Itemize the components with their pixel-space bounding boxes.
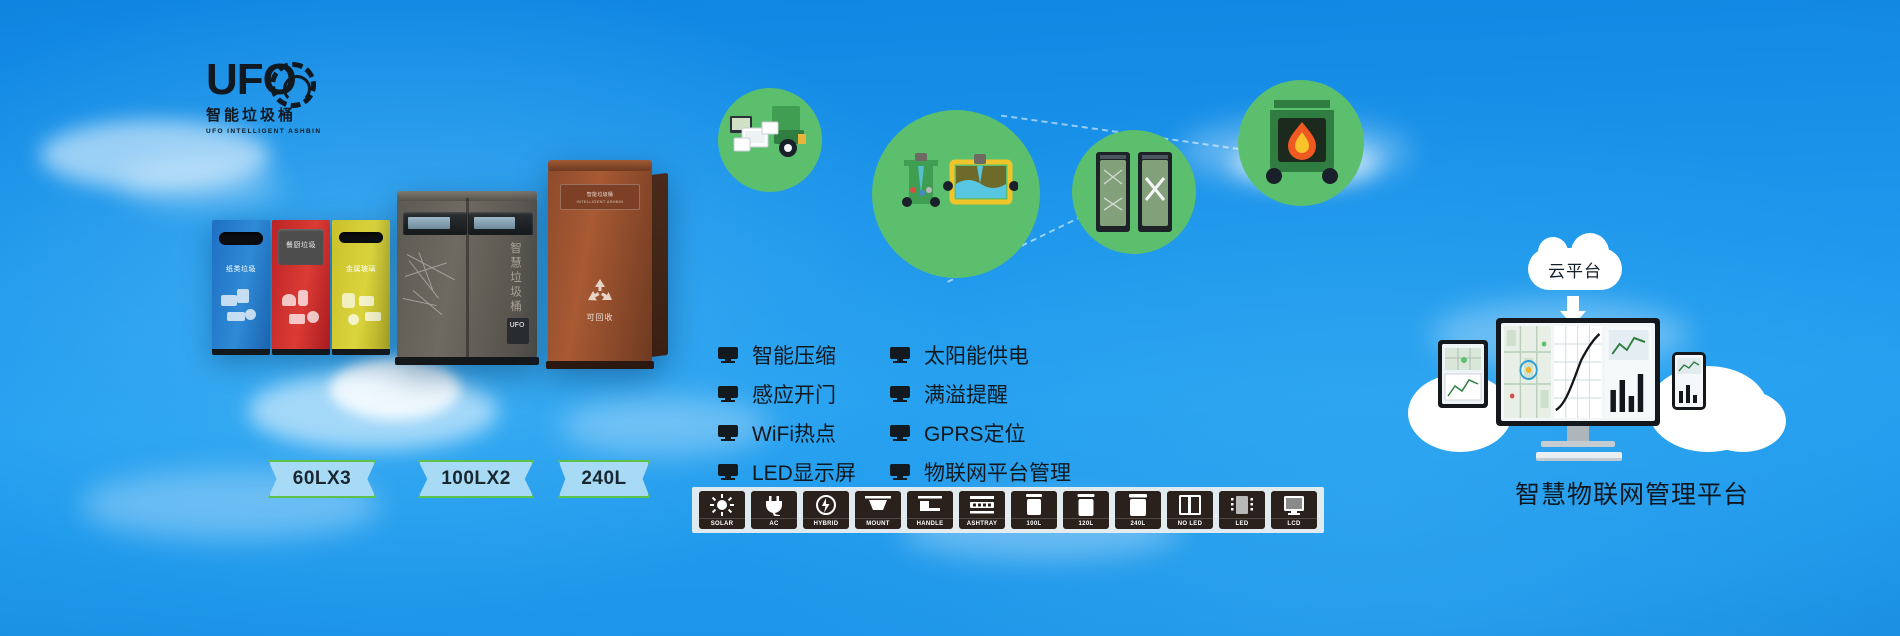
vignette-overlay [0,0,1900,636]
banner-stage: UFO 智能垃圾桶 UFO INTELLIGENT ASHBIN 纸类垃圾 餐厨… [0,0,1900,636]
cloud-platform-label: 云平台 [1548,257,1602,282]
